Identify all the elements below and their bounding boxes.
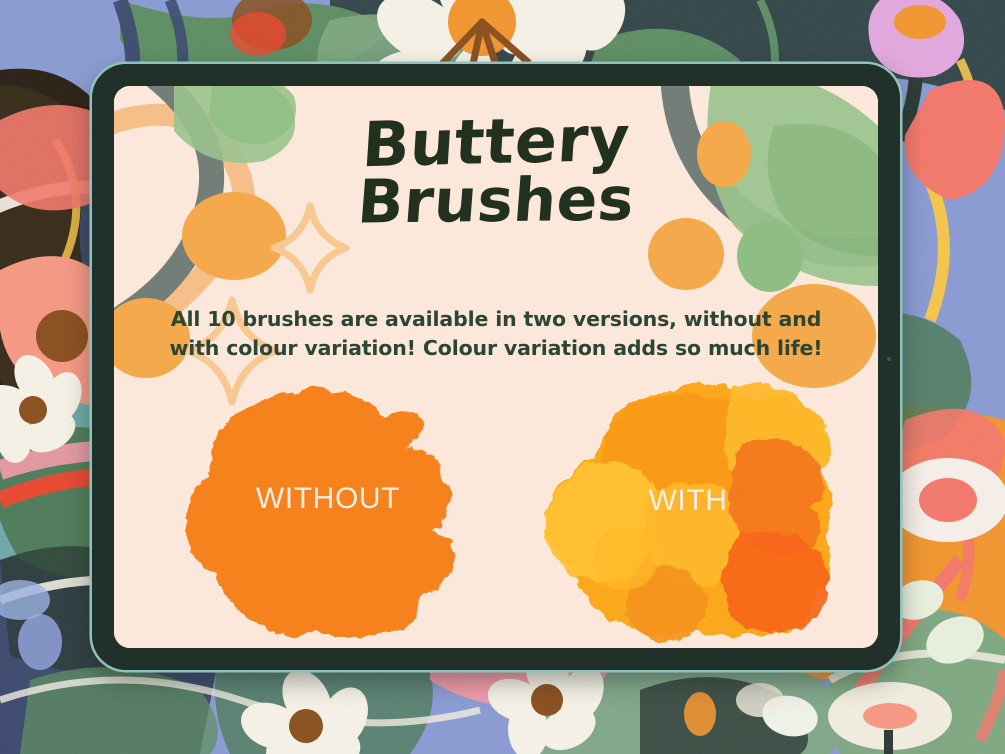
swatch-with-label: WITH	[518, 484, 858, 518]
swatch-without[interactable]: WITHOUT	[158, 376, 498, 646]
page-title-line-2: Brushes	[114, 168, 878, 234]
subtitle-text: All 10 brushes are available in two vers…	[166, 305, 826, 363]
poster-canvas: Buttery Brushes All 10 brushes are avail…	[0, 0, 1005, 754]
brush-comparison: WITHOUT	[114, 376, 878, 646]
swatch-without-label: WITHOUT	[158, 482, 498, 516]
page-title: Buttery Brushes	[114, 112, 878, 230]
front-camera-icon	[887, 357, 891, 361]
tablet-screen: Buttery Brushes All 10 brushes are avail…	[114, 86, 878, 648]
swatch-with[interactable]: WITH	[518, 376, 858, 646]
tablet-device: Buttery Brushes All 10 brushes are avail…	[92, 64, 900, 670]
